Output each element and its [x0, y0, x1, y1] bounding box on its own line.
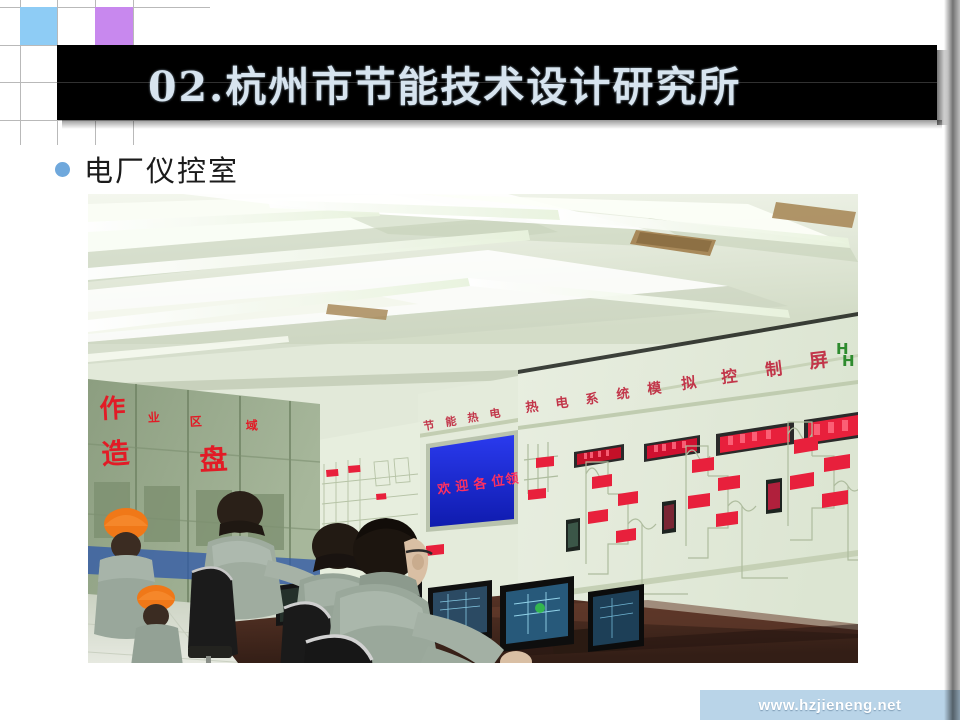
svg-text:电: 电: [555, 395, 570, 412]
svg-text:电: 电: [488, 406, 501, 421]
slide-right-shadow: [944, 0, 960, 720]
svg-text:能: 能: [444, 414, 457, 429]
svg-text:盘: 盘: [199, 443, 229, 477]
svg-text:统: 统: [616, 386, 631, 403]
svg-text:节: 节: [422, 418, 435, 433]
bullet-item: 电厂仪控室: [55, 148, 239, 190]
svg-text:热: 热: [466, 410, 479, 425]
slide-canvas: 02.杭州市节能技术设计研究所 电厂仪控室: [0, 0, 960, 720]
title-bar-shadow-bottom: [62, 120, 942, 129]
svg-text:造: 造: [101, 437, 131, 471]
bullet-dot-icon: [55, 162, 70, 177]
control-room-photo: 热 电 系 统 模 拟 控 制 屏 HH: [88, 194, 858, 663]
page-title: 02.杭州市节能技术设计研究所: [148, 48, 928, 118]
svg-text:域: 域: [245, 417, 258, 433]
svg-text:屏: 屏: [808, 349, 830, 373]
svg-text:控: 控: [720, 366, 738, 387]
svg-text:作: 作: [99, 394, 127, 425]
svg-text:制: 制: [764, 358, 783, 381]
decor-square-purple: [95, 7, 133, 45]
svg-text:位: 位: [491, 473, 506, 490]
svg-text:领: 领: [505, 471, 520, 488]
svg-text:系: 系: [585, 391, 600, 408]
svg-text:迎: 迎: [455, 478, 470, 495]
decor-square-blue: [20, 7, 57, 45]
footer-url[interactable]: www.hzjieneng.net: [700, 690, 960, 720]
svg-text:H: H: [842, 352, 855, 370]
svg-text:区: 区: [189, 414, 202, 429]
bullet-label: 电厂仪控室: [84, 148, 239, 190]
svg-text:拟: 拟: [680, 373, 697, 393]
svg-text:业: 业: [147, 409, 160, 425]
svg-text:热: 热: [525, 399, 540, 416]
